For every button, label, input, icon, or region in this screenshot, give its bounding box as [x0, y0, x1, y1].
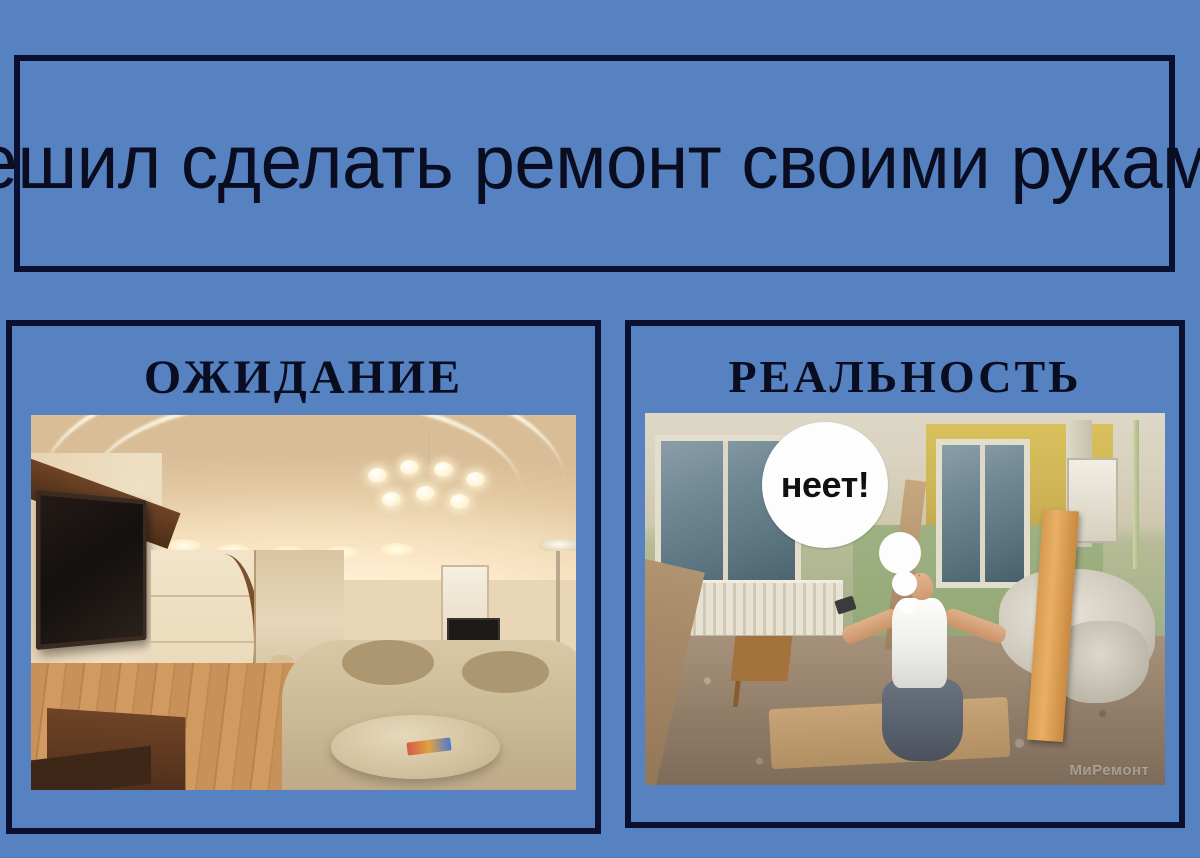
- panel-title-expectation: ОЖИДАНИЕ: [144, 350, 463, 405]
- ceiling-spotlight: [380, 543, 414, 556]
- man-legs: [882, 679, 963, 761]
- chandelier-bulb: [450, 494, 469, 509]
- chandelier-bulb: [434, 462, 453, 477]
- wooden-stool: [731, 636, 793, 681]
- man-right-arm: [942, 606, 1008, 645]
- living-room-illustration: [31, 415, 576, 790]
- panel-expectation: ОЖИДАНИЕ: [6, 320, 601, 834]
- meme-image: решил сделать ремонт своими руками ОЖИДА…: [0, 0, 1200, 858]
- panel-reality: РЕАЛЬНОСТЬ: [625, 320, 1185, 828]
- watermark: МиРемонт: [1069, 762, 1149, 779]
- chandelier-bulb: [466, 472, 485, 487]
- hand-tool: [834, 595, 857, 615]
- window-mullion: [723, 441, 728, 593]
- chandelier: [358, 430, 498, 535]
- thought-bubble-text: неет!: [781, 464, 869, 506]
- photo-reality: неет! МиРемонт: [645, 413, 1165, 785]
- thought-bubble: неет!: [762, 422, 888, 548]
- caption-box: решил сделать ремонт своими руками: [14, 55, 1175, 272]
- chandelier-bulb: [368, 468, 387, 483]
- sofa-cushion: [462, 651, 549, 692]
- wall-pipe: [1133, 420, 1139, 569]
- chandelier-bulb: [382, 492, 401, 507]
- thought-bubble-dot-medium: [892, 571, 917, 596]
- panel-title-reality: РЕАЛЬНОСТЬ: [728, 350, 1081, 403]
- wall-mounted-tv: [36, 490, 146, 650]
- man-kneeling: [832, 573, 1009, 778]
- chandelier-bulb: [400, 460, 419, 475]
- thought-bubble-dot-small: [900, 599, 915, 614]
- sofa-cushion: [342, 640, 435, 685]
- window-right: [936, 439, 1030, 588]
- renovation-room-illustration: неет! МиРемонт: [645, 413, 1165, 785]
- thought-bubble-dot-large: [879, 532, 921, 574]
- chandelier-stem: [428, 430, 430, 466]
- window-mullion: [980, 445, 985, 582]
- chandelier-bulb: [416, 486, 435, 501]
- photo-expectation: [31, 415, 576, 790]
- man-open-mouth: [918, 575, 919, 577]
- caption-text: решил сделать ремонт своими руками: [0, 127, 1200, 199]
